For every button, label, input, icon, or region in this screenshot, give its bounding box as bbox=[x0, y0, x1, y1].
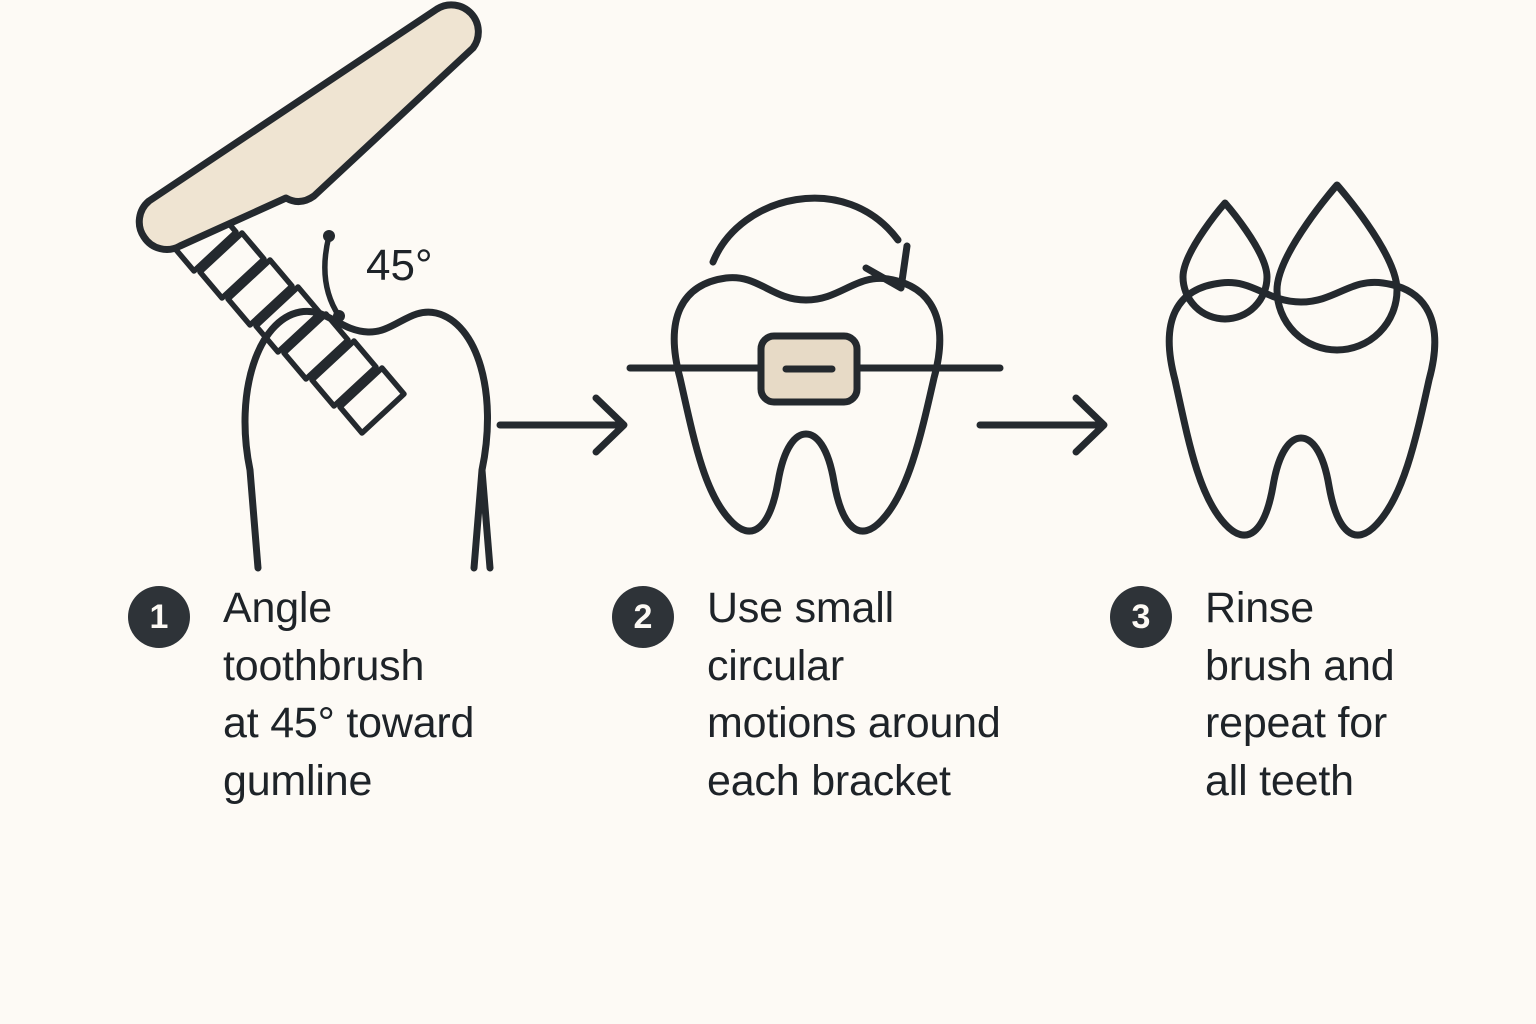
angle-annotation-icon bbox=[323, 230, 345, 322]
step-1: 1 Angle toothbrush at 45° toward gumline bbox=[128, 580, 558, 810]
illustration-step-3 bbox=[1115, 0, 1515, 568]
circular-motion-arrow-icon bbox=[713, 198, 907, 288]
toothbrush-handle-icon bbox=[139, 5, 478, 250]
step-caption-3: Rinse brush and repeat for all teeth bbox=[1205, 580, 1394, 810]
arrow-step2-to-step3 bbox=[970, 380, 1130, 470]
illustration-step-2 bbox=[620, 0, 1020, 568]
step-3: 3 Rinse brush and repeat for all teeth bbox=[1110, 580, 1510, 810]
water-droplet-small-icon bbox=[1183, 203, 1267, 319]
step-number-badge-3: 3 bbox=[1110, 586, 1172, 648]
step-caption-1: Angle toothbrush at 45° toward gumline bbox=[223, 580, 474, 810]
illustration-step-1: 45° bbox=[118, 0, 518, 568]
caption-row: 1 Angle toothbrush at 45° toward gumline… bbox=[0, 580, 1536, 880]
step-2: 2 Use small circular motions around each… bbox=[612, 580, 1082, 810]
step-number-badge-2: 2 bbox=[612, 586, 674, 648]
step-number-badge-1: 1 bbox=[128, 586, 190, 648]
infographic-root: 45° bbox=[0, 0, 1536, 1024]
illustration-row: 45° bbox=[0, 0, 1536, 568]
tooth-outline-icon bbox=[1169, 282, 1435, 535]
bracket-icon bbox=[761, 336, 857, 402]
water-droplet-large-icon bbox=[1277, 185, 1397, 350]
angle-label: 45° bbox=[366, 241, 433, 290]
arrow-step1-to-step2 bbox=[490, 380, 650, 470]
step-caption-2: Use small circular motions around each b… bbox=[707, 580, 1001, 810]
